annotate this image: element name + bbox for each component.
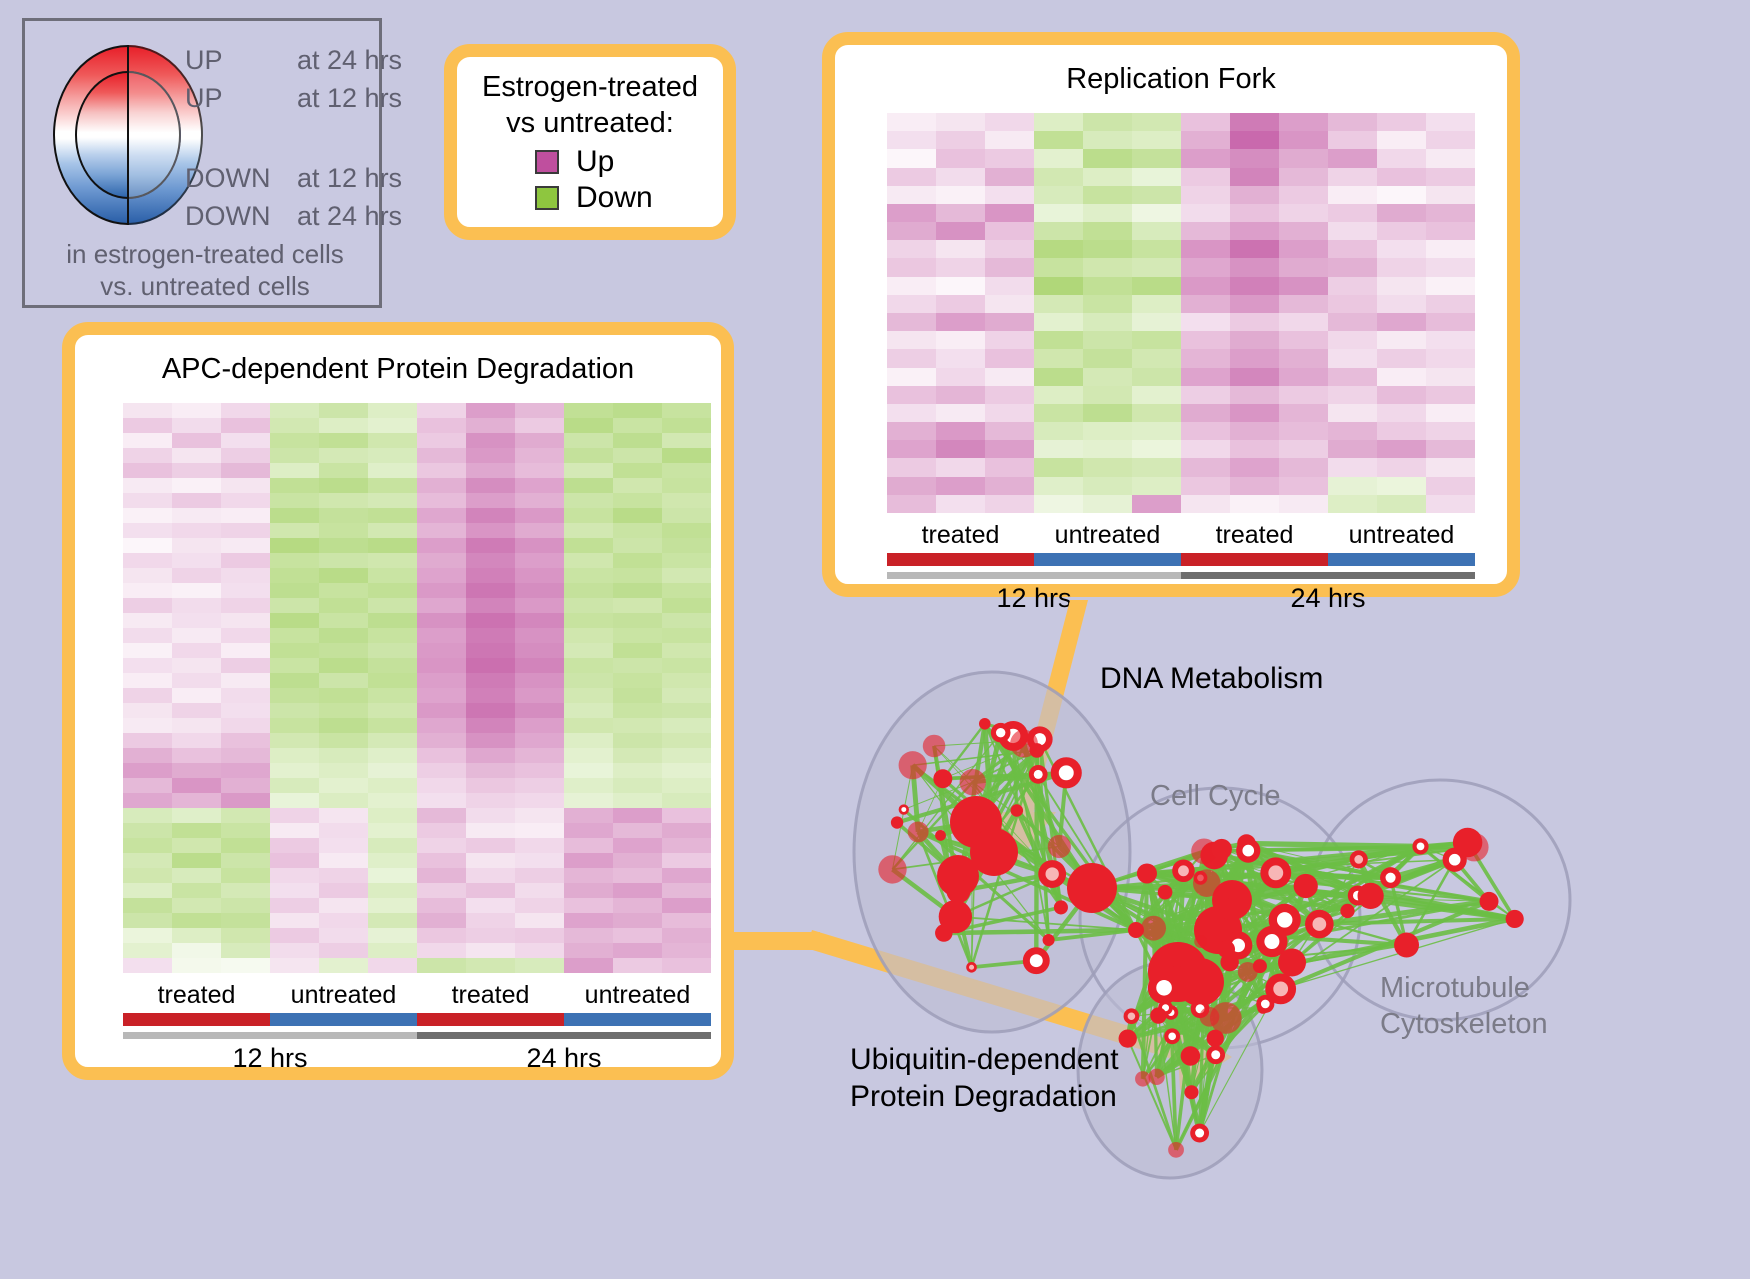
heatmap-cell: [564, 928, 613, 943]
heatmap-cell: [417, 643, 466, 658]
time-bar: [123, 1032, 417, 1039]
heatmap-cell: [613, 598, 662, 613]
heatmap-cell: [417, 928, 466, 943]
heatmap-cell: [613, 493, 662, 508]
network-node-core: [1261, 1000, 1270, 1009]
network-svg: [780, 600, 1750, 1279]
heatmap-cell: [936, 404, 985, 422]
heatmap-cell: [613, 748, 662, 763]
heatmap-cell: [936, 386, 985, 404]
network-node: [891, 816, 903, 828]
heatmap-cell: [515, 403, 564, 418]
heatmap-cell: [564, 433, 613, 448]
heatmap-cell: [985, 204, 1034, 222]
heatmap-cell: [123, 658, 172, 673]
network-node: [1048, 835, 1071, 858]
heatmap-cell: [417, 733, 466, 748]
heatmap-cell: [1132, 313, 1181, 331]
heatmap-cell: [887, 204, 936, 222]
heatmap-cell: [123, 898, 172, 913]
heatmap-cell: [936, 168, 985, 186]
heatmap-cell: [270, 658, 319, 673]
heatmap-cell: [1328, 277, 1377, 295]
legend-time-up-24: at 24 hrs: [297, 45, 402, 76]
heatmap-cell: [1132, 113, 1181, 131]
heatmap-cell: [1230, 458, 1279, 476]
heatmap-cell: [172, 838, 221, 853]
heatmap-cell: [270, 628, 319, 643]
network-node: [1010, 730, 1038, 758]
heatmap-cell: [1132, 277, 1181, 295]
heatmap-cell: [1279, 440, 1328, 458]
heatmap-cell: [887, 349, 936, 367]
heatmap-cell: [662, 538, 711, 553]
heatmap-cell: [270, 433, 319, 448]
heatmap-cell: [1230, 440, 1279, 458]
heatmap-cell: [1377, 404, 1426, 422]
heatmap-cell: [368, 898, 417, 913]
heatmap-cell: [613, 403, 662, 418]
heatmap-cell: [417, 478, 466, 493]
heatmap-cell: [515, 658, 564, 673]
heatmap-cell: [270, 748, 319, 763]
heatmap-cell: [221, 688, 270, 703]
heatmap-cell: [123, 448, 172, 463]
heatmap-cell: [221, 508, 270, 523]
heatmap-cell: [1426, 258, 1475, 276]
heatmap-cell: [1279, 168, 1328, 186]
heatmap-cell: [319, 508, 368, 523]
heatmap-cell: [887, 440, 936, 458]
heatmap-cell: [936, 313, 985, 331]
heatmap-cell: [1377, 149, 1426, 167]
heatmap-cell: [613, 838, 662, 853]
time-bar: [887, 572, 1181, 579]
heatmap-cell: [270, 763, 319, 778]
heatmap-cell: [1083, 222, 1132, 240]
heatmap-cell: [662, 493, 711, 508]
heatmap-cell: [613, 823, 662, 838]
heatmap-cell: [515, 718, 564, 733]
heatmap-cell: [270, 838, 319, 853]
heatmap-cell: [123, 523, 172, 538]
network-node-core: [1242, 845, 1254, 857]
heatmap-cell: [1279, 404, 1328, 422]
heatmap-cell: [1181, 495, 1230, 513]
heatmap-cell: [564, 748, 613, 763]
heatmap-cell: [221, 943, 270, 958]
heatmap-cell: [515, 703, 564, 718]
network-node: [1453, 828, 1482, 857]
heatmap-cell: [1230, 477, 1279, 495]
heatmap-cell: [564, 583, 613, 598]
heatmap-cell: [123, 583, 172, 598]
heatmap-cell: [417, 763, 466, 778]
colorwheel-legend-box: UP at 24 hrs UP at 12 hrs DOWN at 12 hrs…: [22, 18, 382, 308]
heatmap-cell: [270, 943, 319, 958]
heatmap-cell: [417, 703, 466, 718]
network-node: [1278, 948, 1306, 976]
heatmap-cell: [887, 313, 936, 331]
heatmap-cell: [662, 838, 711, 853]
heatmap-cell: [1132, 149, 1181, 167]
heatmap-cell: [270, 823, 319, 838]
heatmap-cell: [1083, 422, 1132, 440]
heatmap-cell: [172, 553, 221, 568]
heatmap-cell: [466, 883, 515, 898]
heatmap-cell: [368, 808, 417, 823]
heatmap-cell: [1328, 331, 1377, 349]
heatmap-cell: [564, 763, 613, 778]
heatmap-cell: [936, 240, 985, 258]
heatmap-cell: [1230, 240, 1279, 258]
heatmap-cell: [123, 823, 172, 838]
heatmap-cell: [221, 448, 270, 463]
heatmap-cell: [123, 553, 172, 568]
heatmap-cell: [1083, 440, 1132, 458]
heatmap-cell: [613, 943, 662, 958]
heatmap-cell: [613, 853, 662, 868]
network-node-core: [1277, 912, 1292, 927]
down-label: Down: [576, 181, 653, 215]
heatmap-cell: [985, 349, 1034, 367]
heatmap-cell: [417, 523, 466, 538]
heatmap-cell: [368, 688, 417, 703]
heatmap-cell: [564, 523, 613, 538]
heatmap-cell: [1328, 458, 1377, 476]
network-node: [908, 821, 929, 842]
heatmap-cell: [172, 433, 221, 448]
heatmap-cell: [564, 598, 613, 613]
heatmap-cell: [1426, 168, 1475, 186]
heatmap-cell: [368, 838, 417, 853]
heatmap-cell: [564, 943, 613, 958]
heatmap-cell: [1328, 440, 1377, 458]
heatmap-cell: [466, 508, 515, 523]
heatmap-cell: [662, 898, 711, 913]
heatmap-cell: [172, 853, 221, 868]
heatmap-cell: [417, 688, 466, 703]
heatmap-cell: [1279, 186, 1328, 204]
group-label: treated: [887, 521, 1034, 550]
heatmap-cell: [417, 568, 466, 583]
heatmap-cell: [368, 433, 417, 448]
network-node: [1158, 885, 1173, 900]
heatmap-cell: [221, 553, 270, 568]
heatmap-cell: [1083, 204, 1132, 222]
heatmap-cell: [1377, 477, 1426, 495]
heatmap-cell: [172, 568, 221, 583]
heatmap-cell: [368, 508, 417, 523]
heatmap-cell: [270, 508, 319, 523]
heatmap-cell: [319, 673, 368, 688]
heatmap-cell: [1181, 349, 1230, 367]
heatmap-cell: [123, 718, 172, 733]
heatmap-cell: [936, 349, 985, 367]
heatmap-cell: [613, 508, 662, 523]
heatmap-cell: [221, 958, 270, 973]
heatmap-cell: [613, 958, 662, 973]
apc-group-bars: [123, 1013, 711, 1026]
heatmap-cell: [936, 477, 985, 495]
heatmap-cell: [1328, 149, 1377, 167]
heatmap-cell: [172, 493, 221, 508]
heatmap-cell: [564, 418, 613, 433]
heatmap-cell: [466, 733, 515, 748]
heatmap-cell: [1181, 113, 1230, 131]
network-node: [1224, 881, 1242, 899]
heatmap-cell: [368, 913, 417, 928]
heatmap-cell: [319, 808, 368, 823]
heatmap-cell: [1034, 349, 1083, 367]
heatmap-cell: [270, 598, 319, 613]
heatmap-cell: [1279, 495, 1328, 513]
heatmap-cell: [564, 793, 613, 808]
heatmap-legend-title-line1: Estrogen-treated: [457, 71, 723, 104]
heatmap-cell: [1083, 368, 1132, 386]
heatmap-cell: [319, 703, 368, 718]
heatmap-cell: [613, 883, 662, 898]
heatmap-cell: [417, 823, 466, 838]
heatmap-cell: [1426, 440, 1475, 458]
heatmap-cell: [1230, 404, 1279, 422]
heatmap-cell: [662, 658, 711, 673]
group-bar: [1034, 553, 1181, 566]
heatmap-cell: [1230, 349, 1279, 367]
heatmap-cell: [319, 658, 368, 673]
heatmap-cell: [466, 688, 515, 703]
heatmap-cell: [417, 628, 466, 643]
network-node: [923, 735, 946, 758]
heatmap-cell: [662, 463, 711, 478]
heatmap-cell: [985, 477, 1034, 495]
heatmap-cell: [1083, 313, 1132, 331]
heatmap-cell: [662, 943, 711, 958]
heatmap-cell: [270, 928, 319, 943]
heatmap-cell: [1181, 404, 1230, 422]
heatmap-cell: [123, 493, 172, 508]
rf-group-bars: [887, 553, 1475, 566]
network-node: [1168, 1142, 1184, 1158]
heatmap-cell: [515, 688, 564, 703]
heatmap-cell: [1132, 349, 1181, 367]
heatmap-cell: [319, 898, 368, 913]
heatmap-cell: [936, 113, 985, 131]
heatmap-cell: [662, 598, 711, 613]
heatmap-cell: [417, 508, 466, 523]
heatmap-cell: [368, 598, 417, 613]
heatmap-cell: [466, 943, 515, 958]
heatmap-cell: [221, 718, 270, 733]
heatmap-cell: [1279, 295, 1328, 313]
heatmap-cell: [172, 523, 221, 538]
network-node: [1054, 900, 1068, 914]
network-node: [1184, 1085, 1198, 1099]
network-node: [1150, 1007, 1166, 1023]
heatmap-cell: [1328, 258, 1377, 276]
heatmap-cell: [368, 733, 417, 748]
heatmap-cell: [564, 718, 613, 733]
heatmap-cell: [1034, 186, 1083, 204]
heatmap-cell: [662, 763, 711, 778]
heatmap-cell: [1083, 149, 1132, 167]
heatmap-cell: [613, 793, 662, 808]
heatmap-cell: [221, 853, 270, 868]
network-node-core: [1264, 934, 1279, 949]
heatmap-cell: [613, 643, 662, 658]
network-node: [960, 769, 986, 795]
heatmap-cell: [466, 538, 515, 553]
heatmap-cell: [417, 793, 466, 808]
heatmap-cell: [123, 688, 172, 703]
heatmap-cell: [1083, 168, 1132, 186]
heatmap-cell: [1034, 168, 1083, 186]
heatmap-cell: [123, 403, 172, 418]
heatmap-cell: [1083, 240, 1132, 258]
heatmap-cell: [123, 733, 172, 748]
network-node: [1067, 863, 1117, 913]
heatmap-cell: [1132, 204, 1181, 222]
heatmap-cell: [1377, 368, 1426, 386]
heatmap-cell: [662, 703, 711, 718]
heatmap-cell: [172, 898, 221, 913]
heatmap-cell: [319, 523, 368, 538]
heatmap-cell: [123, 913, 172, 928]
heatmap-cell: [123, 673, 172, 688]
heatmap-cell: [1034, 368, 1083, 386]
heatmap-cell: [515, 913, 564, 928]
heatmap-cell: [1377, 386, 1426, 404]
heatmap-cell: [1328, 313, 1377, 331]
heatmap-cell: [1279, 240, 1328, 258]
heatmap-cell: [515, 898, 564, 913]
heatmap-cell: [1279, 277, 1328, 295]
heatmap-cell: [123, 853, 172, 868]
heatmap-cell: [936, 422, 985, 440]
network-node: [1141, 916, 1166, 941]
heatmap-cell: [172, 628, 221, 643]
heatmap-cell: [887, 495, 936, 513]
heatmap-cell: [368, 868, 417, 883]
heatmap-cell: [515, 463, 564, 478]
heatmap-cell: [1181, 458, 1230, 476]
heatmap-cell: [368, 613, 417, 628]
heatmap-cell: [319, 568, 368, 583]
heatmap-cell: [613, 928, 662, 943]
apc-degradation-panel: APC-dependent Protein Degradation treate…: [62, 322, 734, 1080]
network-node-core: [1178, 865, 1189, 876]
heatmap-cell: [319, 418, 368, 433]
heatmap-cell: [1034, 240, 1083, 258]
heatmap-cell: [662, 868, 711, 883]
heatmap-cell: [1279, 349, 1328, 367]
group-label: untreated: [270, 981, 417, 1010]
apc-time-bars: [123, 1032, 711, 1039]
heatmap-cell: [123, 793, 172, 808]
heatmap-cell: [1377, 277, 1426, 295]
heatmap-cell: [564, 493, 613, 508]
heatmap-cell: [1034, 386, 1083, 404]
heatmap-legend-item-up: Up: [535, 145, 614, 179]
heatmap-cell: [368, 568, 417, 583]
heatmap-cell: [515, 853, 564, 868]
heatmap-cell: [172, 598, 221, 613]
network-node-core: [1386, 873, 1396, 883]
heatmap-cell: [1230, 186, 1279, 204]
heatmap-cell: [887, 422, 936, 440]
network-node: [878, 855, 906, 883]
heatmap-cell: [662, 403, 711, 418]
heatmap-cell: [1426, 458, 1475, 476]
heatmap-cell: [613, 718, 662, 733]
heatmap-cell: [270, 688, 319, 703]
heatmap-cell: [221, 433, 270, 448]
heatmap-cell: [515, 448, 564, 463]
legend-state-down-12: DOWN: [185, 163, 270, 194]
heatmap-cell: [985, 222, 1034, 240]
heatmap-cell: [172, 718, 221, 733]
group-bar: [887, 553, 1034, 566]
heatmap-cell: [1279, 258, 1328, 276]
heatmap-cell: [515, 508, 564, 523]
heatmap-cell: [985, 295, 1034, 313]
heatmap-cell: [319, 853, 368, 868]
heatmap-cell: [466, 823, 515, 838]
heatmap-cell: [662, 778, 711, 793]
time-label: 24 hrs: [417, 1043, 711, 1074]
heatmap-cell: [1377, 222, 1426, 240]
heatmap-cell: [1426, 240, 1475, 258]
heatmap-cell: [1083, 331, 1132, 349]
heatmap-cell: [466, 958, 515, 973]
heatmap-cell: [172, 868, 221, 883]
heatmap-cell: [417, 463, 466, 478]
heatmap-cell: [319, 403, 368, 418]
heatmap-cell: [368, 823, 417, 838]
heatmap-cell: [123, 778, 172, 793]
heatmap-cell: [1377, 422, 1426, 440]
heatmap-cell: [515, 883, 564, 898]
group-bar: [564, 1013, 711, 1026]
heatmap-cell: [1230, 331, 1279, 349]
heatmap-legend-title-line2: vs untreated:: [457, 107, 723, 140]
heatmap-legend-panel: Estrogen-treated vs untreated: Up Down: [444, 44, 736, 240]
heatmap-cell: [270, 463, 319, 478]
legend-time-down-24: at 24 hrs: [297, 201, 402, 232]
legend-time-up-12: at 12 hrs: [297, 83, 402, 114]
network-node: [1193, 869, 1221, 897]
heatmap-cell: [1377, 313, 1426, 331]
heatmap-cell: [466, 808, 515, 823]
legend-time-down-12: at 12 hrs: [297, 163, 402, 194]
heatmap-cell: [564, 913, 613, 928]
heatmap-cell: [662, 823, 711, 838]
heatmap-cell: [515, 478, 564, 493]
network-node-core: [1128, 1012, 1136, 1020]
heatmap-cell: [662, 958, 711, 973]
cluster-label-dna-metabolism: DNA Metabolism: [1100, 662, 1323, 696]
heatmap-cell: [1132, 386, 1181, 404]
heatmap-cell: [887, 240, 936, 258]
heatmap-cell: [1377, 240, 1426, 258]
heatmap-cell: [613, 763, 662, 778]
heatmap-cell: [1230, 386, 1279, 404]
heatmap-cell: [417, 838, 466, 853]
heatmap-cell: [613, 808, 662, 823]
heatmap-cell: [123, 613, 172, 628]
heatmap-cell: [319, 553, 368, 568]
heatmap-cell: [368, 883, 417, 898]
